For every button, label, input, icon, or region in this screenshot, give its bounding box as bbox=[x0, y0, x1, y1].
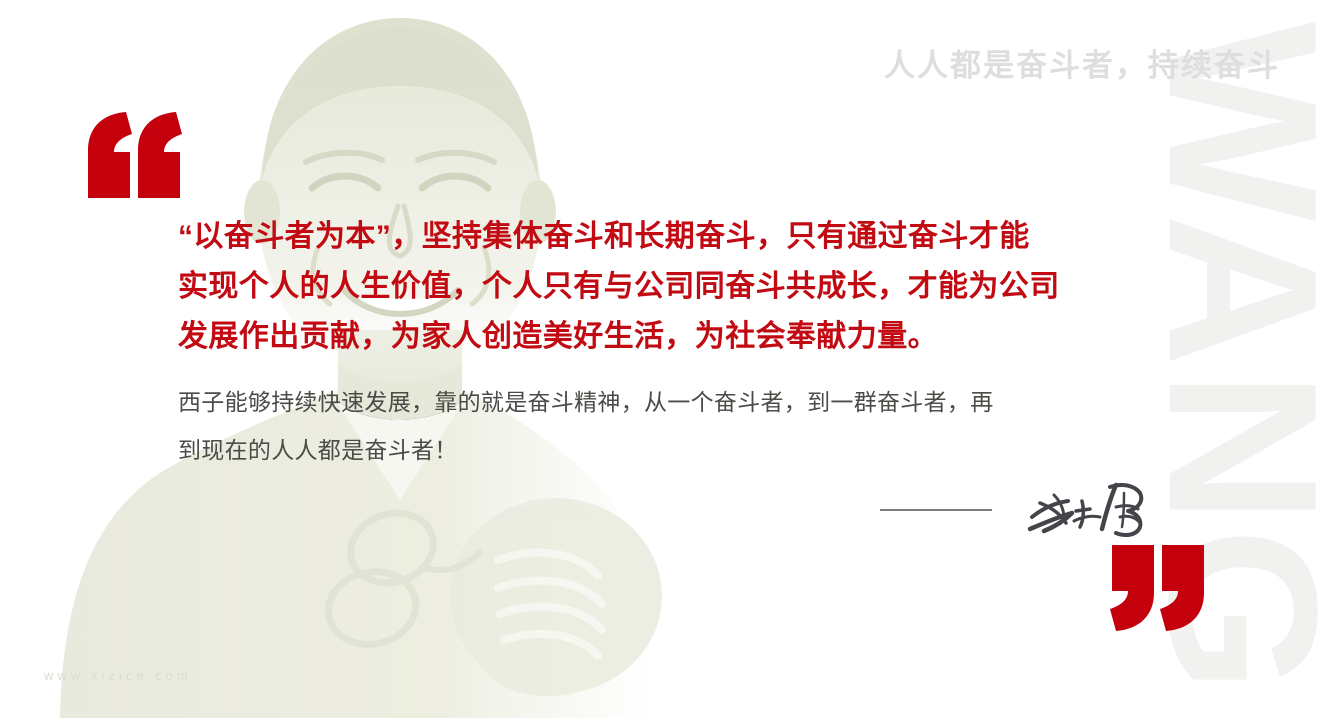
quote-red-line-3: 发展作出贡献，为家人创造美好生活，为社会奉献力量。 bbox=[178, 312, 1168, 362]
quote-gray-block: 西子能够持续快速发展，靠的就是奋斗精神，从一个奋斗者，到一群奋斗者，再 到现在的… bbox=[178, 378, 1168, 474]
signature-rule bbox=[880, 509, 992, 511]
quote-content: “以奋斗者为本”，坚持集体奋斗和长期奋斗，只有通过奋斗才能 实现个人的人生价值，… bbox=[178, 212, 1168, 474]
page-title: 人人都是奋斗者，持续奋斗 bbox=[884, 40, 1280, 85]
signature-block bbox=[880, 470, 1170, 550]
close-quote-icon bbox=[1110, 545, 1206, 631]
quote-red-block: “以奋斗者为本”，坚持集体奋斗和长期奋斗，只有通过奋斗才能 实现个人的人生价值，… bbox=[178, 212, 1168, 362]
slide-canvas: WANG 人人都是奋斗者，持续奋斗 “以奋斗者为本”，坚持集体奋斗和长期奋斗，只… bbox=[0, 0, 1322, 718]
quote-gray-line-1: 西子能够持续快速发展，靠的就是奋斗精神，从一个奋斗者，到一群奋斗者，再 bbox=[178, 378, 1168, 426]
quote-red-line-2: 实现个人的人生价值，个人只有与公司同奋斗共成长，才能为公司 bbox=[178, 262, 1168, 312]
quote-red-line-1: “以奋斗者为本”，坚持集体奋斗和长期奋斗，只有通过奋斗才能 bbox=[178, 212, 1168, 262]
footer-website-url: www.xizice.com bbox=[44, 668, 192, 683]
open-quote-icon bbox=[86, 112, 182, 198]
signature-handwriting bbox=[1020, 473, 1150, 548]
quote-gray-line-2: 到现在的人人都是奋斗者！ bbox=[178, 426, 1168, 474]
